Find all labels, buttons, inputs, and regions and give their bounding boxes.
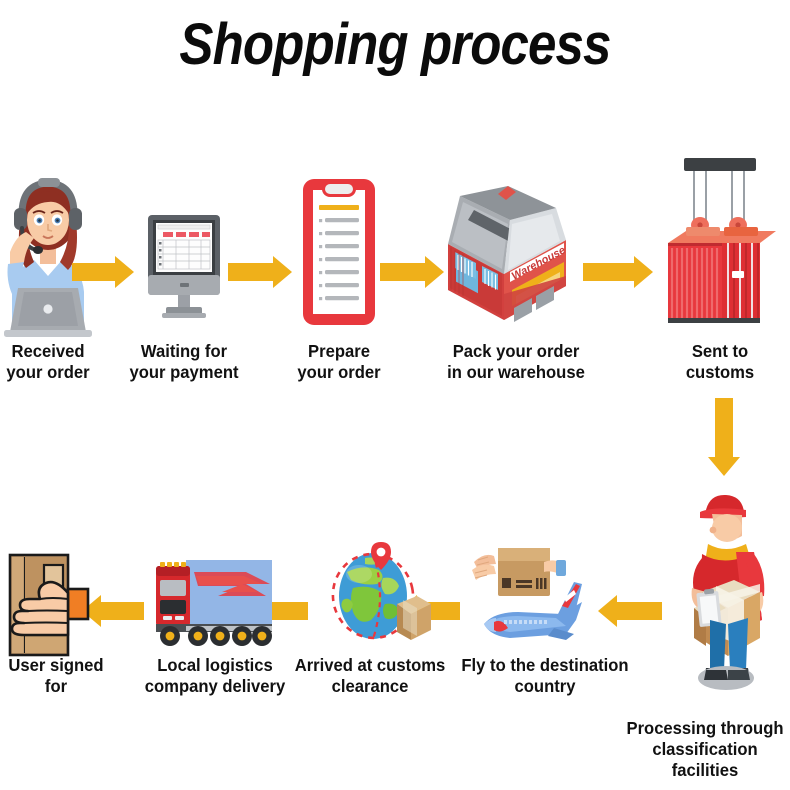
step-8-caption: Arrived at customs clearance: [277, 655, 463, 697]
step-4-caption: Pack your order in our warehouse: [438, 341, 594, 383]
step-1-caption: Received your order: [0, 341, 105, 383]
shopping-process-infographic: Shopping process: [0, 0, 790, 790]
step-1-received-your-order: [0, 172, 96, 337]
step-6-processing-through-classification-facilities: [668, 488, 778, 698]
step-4-pack-your-order-in-our-warehouse: Warehouse: [438, 186, 574, 332]
arrow-step3-to-step4: [380, 256, 444, 288]
clipboard-checklist-icon: [300, 176, 378, 328]
step-2-caption: Waiting for your payment: [122, 341, 246, 383]
step-3-caption: Prepare your order: [280, 341, 398, 383]
step-10-caption: User signed for: [0, 655, 117, 697]
step-8-arrived-at-customs-clearance: [325, 538, 435, 650]
warehouse-building-icon: Warehouse: [438, 186, 574, 332]
door-thumbs-up-icon: [6, 553, 102, 659]
step-6-caption: Processing through classification facili…: [624, 718, 786, 781]
step-9-caption: Local logistics company delivery: [128, 655, 303, 697]
step-2-waiting-for-your-payment: [140, 213, 228, 323]
step-7-caption: Fly to the destination country: [452, 655, 638, 697]
arrow-step5-to-step6: [708, 398, 740, 476]
globe-parcel-pin-icon: [325, 538, 435, 650]
delivery-truck-icon: [150, 552, 280, 652]
arrow-step6-to-step7: [598, 595, 662, 627]
arrow-step2-to-step3: [228, 256, 292, 288]
step-9-local-logistics-company-delivery: [150, 552, 280, 652]
desktop-monitor-spreadsheet-icon: [140, 213, 228, 323]
page-title: Shopping process: [47, 14, 742, 76]
step-5-sent-to-customs: [662, 155, 784, 335]
step-7-fly-to-the-destination-country: [470, 540, 590, 655]
arrow-step4-to-step5: [583, 256, 653, 288]
step-10-user-signed-for: [6, 553, 102, 659]
step-3-prepare-your-order: [300, 176, 378, 328]
delivery-worker-parcel-icon: [668, 488, 778, 698]
airplane-parcel-icon: [470, 540, 590, 655]
shipping-container-crane-icon: [662, 155, 784, 335]
customer-service-agent-icon: [0, 172, 96, 337]
step-5-caption: Sent to customs: [658, 341, 782, 383]
arrow-step1-to-step2: [72, 256, 134, 288]
